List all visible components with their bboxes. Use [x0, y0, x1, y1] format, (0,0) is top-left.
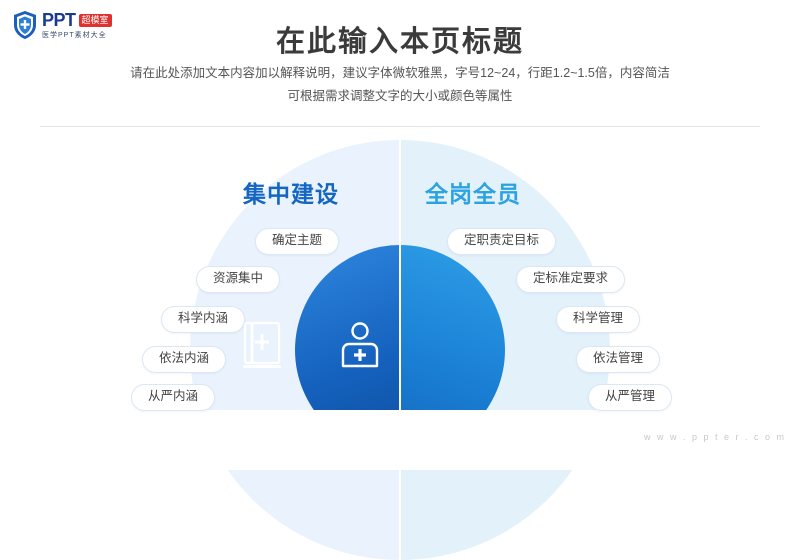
left-item-5[interactable]: 从严内涵: [131, 384, 215, 411]
subtitle-line-2: 可根据需求调整文字的大小或颜色等属性: [0, 85, 800, 108]
subtitle-line-1: 请在此处添加文本内容加以解释说明，建议字体微软雅黑，字号12~24，行距1.2~…: [0, 62, 800, 85]
left-heading: 集中建设: [243, 175, 339, 209]
right-item-5[interactable]: 从严管理: [588, 384, 672, 411]
page-subtitle: 请在此处添加文本内容加以解释说明，建议字体微软雅黑，字号12~24，行距1.2~…: [0, 62, 800, 108]
header-divider: [40, 126, 760, 127]
right-item-2[interactable]: 定标准定要求: [516, 266, 625, 293]
right-item-1[interactable]: 定职责定目标: [447, 228, 556, 255]
page-title: 在此输入本页标题: [0, 18, 800, 60]
right-item-3[interactable]: 科学管理: [556, 306, 640, 333]
doctor-person-icon: [337, 322, 383, 375]
left-item-3[interactable]: 科学内涵: [161, 306, 245, 333]
book-medical-icon: [240, 320, 284, 375]
left-item-2[interactable]: 资源集中: [196, 266, 280, 293]
left-item-4[interactable]: 依法内涵: [142, 346, 226, 373]
bottom-mask: [180, 410, 620, 470]
watermark: w w w . p p t e r . c o m: [644, 432, 786, 442]
right-item-4[interactable]: 依法管理: [576, 346, 660, 373]
left-item-1[interactable]: 确定主题: [255, 228, 339, 255]
right-heading: 全岗全员: [425, 175, 521, 209]
